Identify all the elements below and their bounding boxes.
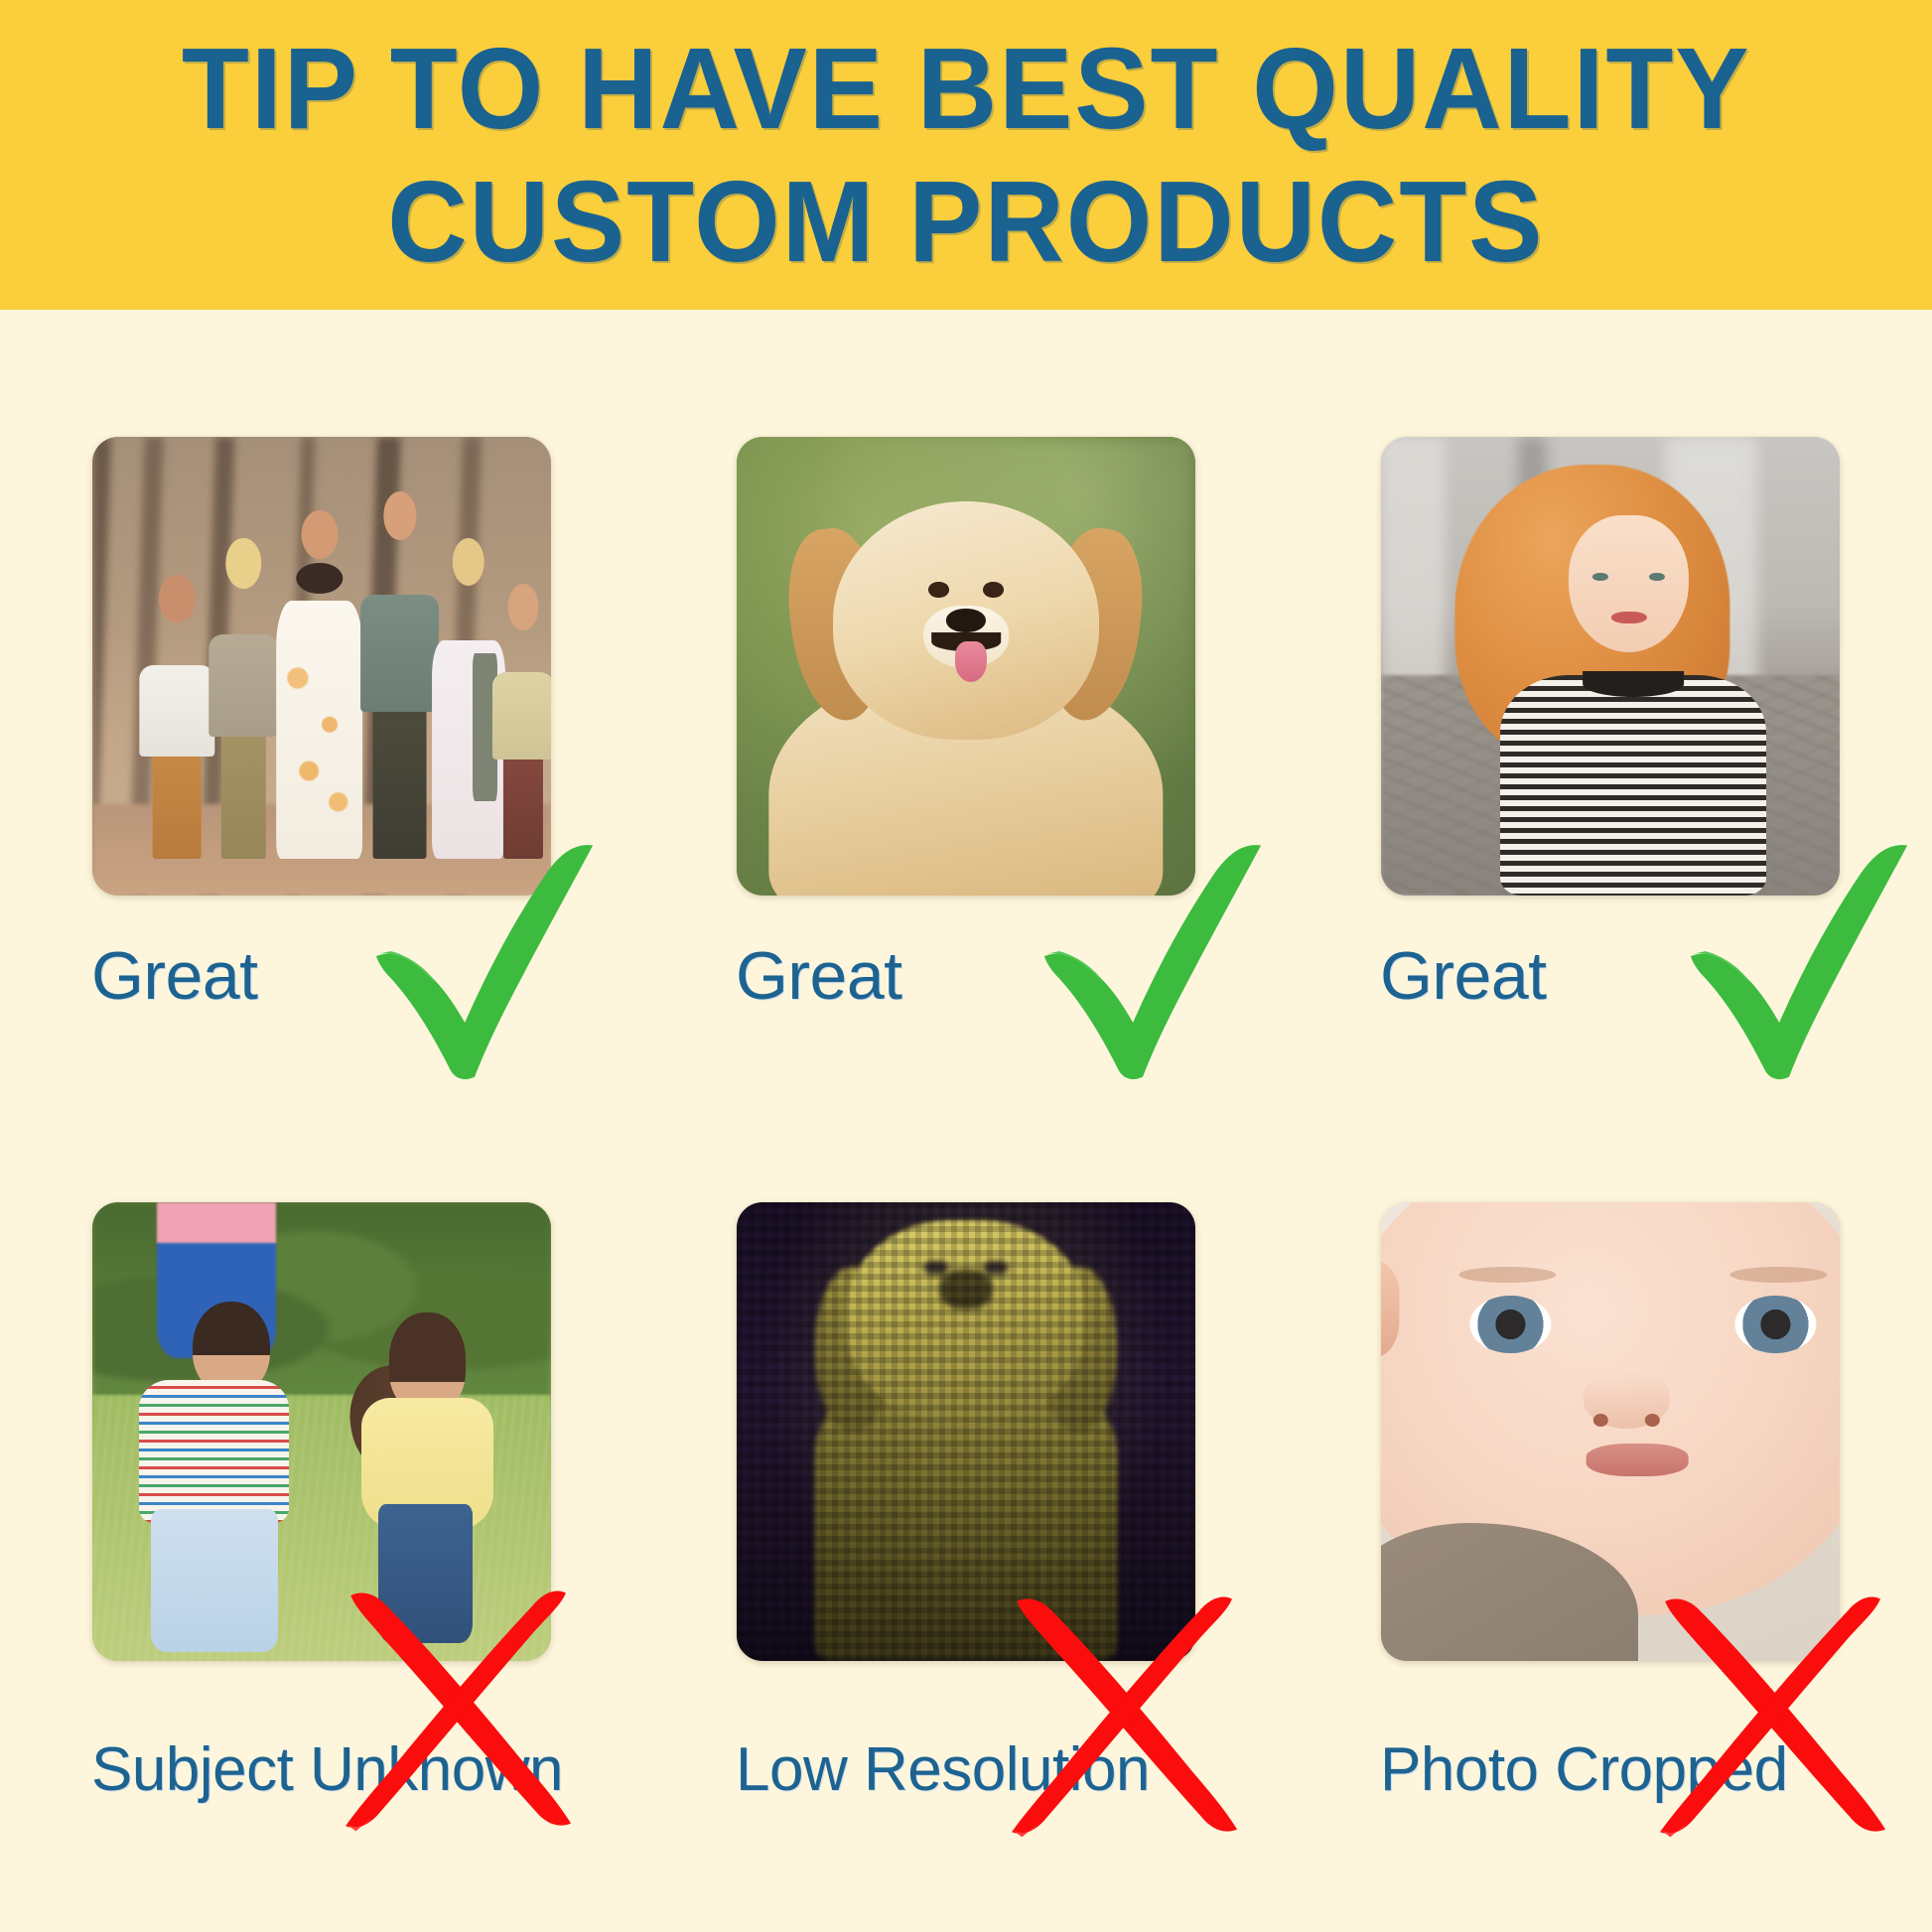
verdict-row: Subject Unknown (0, 1705, 643, 1834)
header-banner: TIP TO HAVE BEST QUALITY CUSTOM PRODUCTS (0, 0, 1932, 310)
photo-golden-retriever-portrait[interactable] (737, 437, 1195, 896)
photo-redhead-woman-street-portrait[interactable] (1381, 437, 1840, 896)
verdict-row: Great (1289, 911, 1932, 1040)
verdict-row: Great (0, 911, 643, 1040)
example-cell-kids[interactable]: Subject Unknown (0, 1121, 643, 1932)
row-good-examples: Great (0, 310, 1932, 1121)
infographic-poster: TIP TO HAVE BEST QUALITY CUSTOM PRODUCTS (0, 0, 1932, 1932)
verdict-label: Photo Cropped (1380, 1734, 1788, 1805)
verdict-row: Photo Cropped (1289, 1705, 1932, 1834)
example-cell-baby[interactable]: Photo Cropped (1289, 1121, 1932, 1932)
verdict-label: Great (1380, 937, 1547, 1015)
row-bad-examples: Subject Unknown (0, 1121, 1932, 1932)
verdict-label: Subject Unknown (91, 1734, 563, 1805)
photo-family-group-portrait[interactable] (92, 437, 551, 896)
verdict-label: Great (91, 937, 258, 1015)
verdict-label: Great (736, 937, 902, 1015)
photo-blurry-pixelated-dog-at-night[interactable] (737, 1202, 1195, 1661)
verdict-row: Great (644, 911, 1288, 1040)
example-cell-family[interactable]: Great (0, 310, 643, 1121)
verdict-label: Low Resolution (736, 1734, 1150, 1805)
photo-baby-face-close-up-cropped[interactable] (1381, 1202, 1840, 1661)
header-title-line-2: CUSTOM PRODUCTS (387, 164, 1544, 279)
verdict-row: Low Resolution (644, 1705, 1288, 1834)
photo-children-running-on-grass[interactable] (92, 1202, 551, 1661)
examples-grid: Great (0, 310, 1932, 1932)
example-cell-woman[interactable]: Great (1289, 310, 1932, 1121)
header-title-line-1: TIP TO HAVE BEST QUALITY (182, 31, 1751, 146)
example-cell-dog[interactable]: Great (644, 310, 1288, 1121)
example-cell-lowres-dog[interactable]: Low Resolution (644, 1121, 1288, 1932)
